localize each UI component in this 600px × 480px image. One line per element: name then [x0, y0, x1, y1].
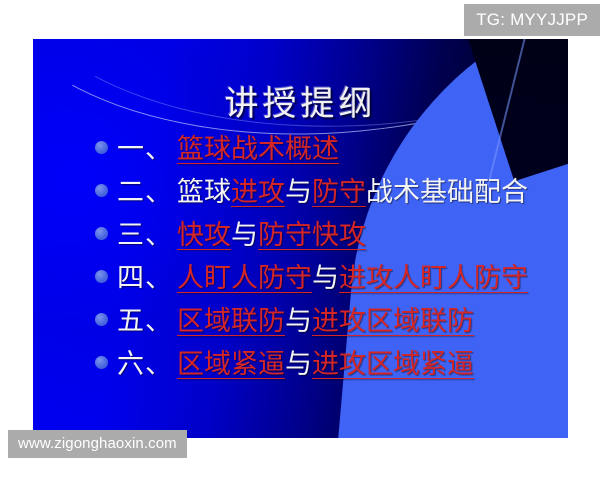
static-text: 战术基础配合 [366, 177, 528, 208]
list-item-number: 四、 [117, 263, 173, 294]
list-item[interactable]: 六、区域紧逼与进攻区域紧逼 [95, 351, 564, 394]
list-item-text: 五、区域联防与进攻区域联防 [117, 308, 474, 335]
list-item-text: 三、快攻与防守快攻 [117, 222, 366, 249]
static-text: 与 [285, 177, 312, 208]
bullet-circle-icon [95, 141, 108, 154]
hyperlink-text[interactable]: 防守 [312, 177, 366, 208]
list-item-number: 二、 [117, 177, 173, 208]
slide-content: 讲授提纲 一、篮球战术概述二、篮球进攻与防守战术基础配合三、快攻与防守快攻四、人… [33, 39, 568, 438]
list-item-text: 二、篮球进攻与防守战术基础配合 [117, 179, 528, 206]
static-text: 与 [231, 220, 258, 251]
telegram-watermark: TG: MYYJJPP [464, 4, 600, 36]
hyperlink-text[interactable]: 快攻 [177, 220, 231, 251]
hyperlink-text[interactable]: 进攻 [231, 177, 285, 208]
list-item[interactable]: 五、区域联防与进攻区域联防 [95, 308, 564, 351]
hyperlink-text[interactable]: 进攻区域联防 [312, 306, 474, 337]
list-item-text: 六、区域紧逼与进攻区域紧逼 [117, 351, 474, 378]
hyperlink-text[interactable]: 进攻区域紧逼 [312, 349, 474, 380]
static-text: 与 [312, 263, 339, 294]
bullet-circle-icon [95, 313, 108, 326]
page-title: 讲授提纲 [33, 87, 568, 121]
hyperlink-text[interactable]: 人盯人防守 [177, 263, 312, 294]
list-item[interactable]: 四、人盯人防守与进攻人盯人防守 [95, 265, 564, 308]
static-text: 篮球 [177, 177, 231, 208]
hyperlink-text[interactable]: 区域联防 [177, 306, 285, 337]
hyperlink-text[interactable]: 防守快攻 [258, 220, 366, 251]
presentation-slide: 讲授提纲 一、篮球战术概述二、篮球进攻与防守战术基础配合三、快攻与防守快攻四、人… [33, 39, 568, 438]
list-item-text: 四、人盯人防守与进攻人盯人防守 [117, 265, 528, 292]
outline-list: 一、篮球战术概述二、篮球进攻与防守战术基础配合三、快攻与防守快攻四、人盯人防守与… [95, 136, 564, 394]
list-item-number: 六、 [117, 349, 173, 380]
bullet-circle-icon [95, 356, 108, 369]
hyperlink-text[interactable]: 区域紧逼 [177, 349, 285, 380]
list-item-number: 一、 [117, 134, 173, 165]
list-item-number: 三、 [117, 220, 173, 251]
bullet-circle-icon [95, 227, 108, 240]
list-item[interactable]: 三、快攻与防守快攻 [95, 222, 564, 265]
static-text: 与 [285, 306, 312, 337]
static-text: 与 [285, 349, 312, 380]
list-item-text: 一、篮球战术概述 [117, 136, 339, 163]
list-item[interactable]: 二、篮球进攻与防守战术基础配合 [95, 179, 564, 222]
hyperlink-text[interactable]: 篮球战术概述 [177, 134, 339, 165]
list-item-number: 五、 [117, 306, 173, 337]
website-watermark: www.zigonghaoxin.com [8, 430, 187, 458]
bullet-circle-icon [95, 184, 108, 197]
list-item[interactable]: 一、篮球战术概述 [95, 136, 564, 179]
bullet-circle-icon [95, 270, 108, 283]
hyperlink-text[interactable]: 进攻人盯人防守 [339, 263, 528, 294]
